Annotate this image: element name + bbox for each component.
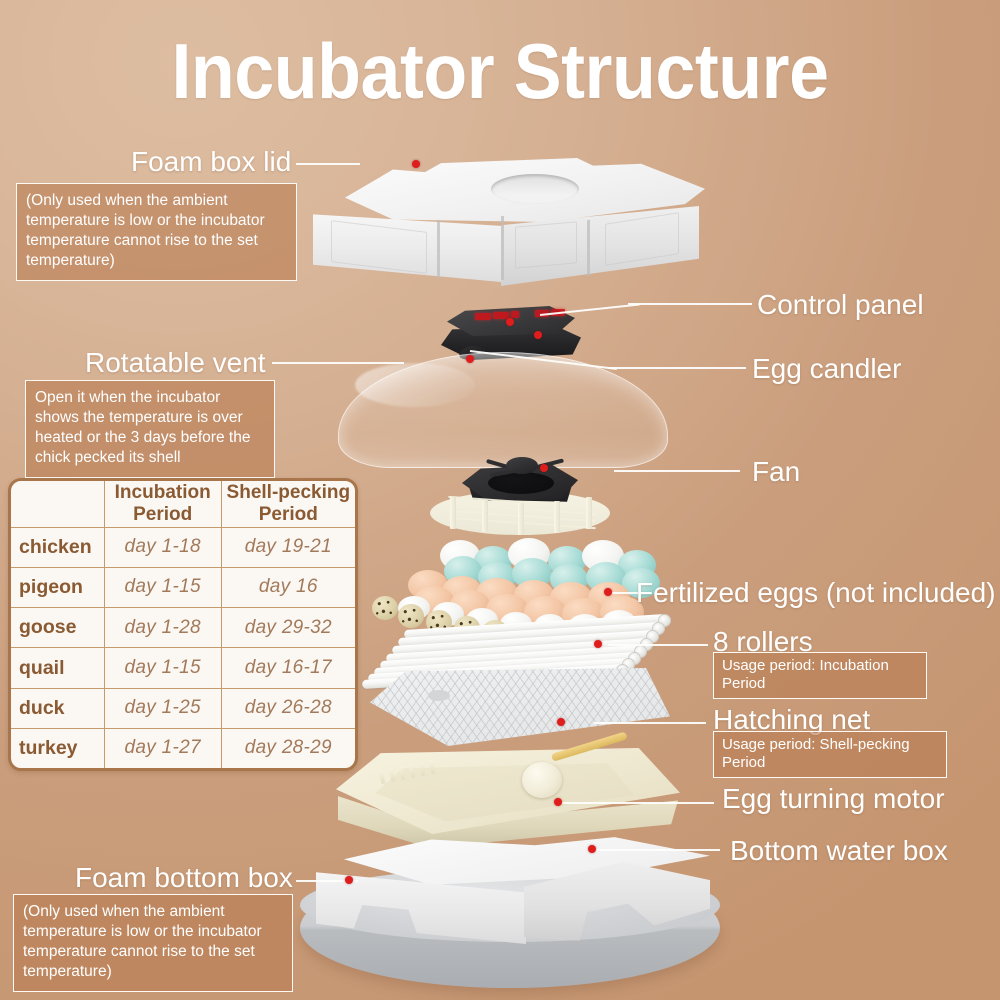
foam-lid-groove bbox=[437, 220, 440, 278]
foam-lid-groove bbox=[587, 220, 590, 276]
cell-species: duck bbox=[11, 688, 104, 728]
fan-hub bbox=[506, 457, 538, 474]
note-hatching-net: Usage period: Shell-pecking Period bbox=[713, 731, 947, 778]
fan-fence bbox=[448, 495, 596, 531]
foam-lid-panel bbox=[515, 221, 577, 268]
leader-foam-box-lid bbox=[296, 163, 360, 165]
table-header-row: Incubation Period Shell-pecking Period bbox=[11, 481, 355, 527]
label-fan: Fan bbox=[752, 456, 800, 488]
quail-egg bbox=[372, 596, 398, 620]
leader-hatching-net bbox=[594, 722, 706, 724]
table-row: pigeon day 1-15 day 16 bbox=[11, 567, 355, 607]
infographic-canvas: Incubator Structure bbox=[0, 0, 1000, 1000]
cell-pecking: day 29-32 bbox=[221, 608, 355, 648]
label-rotatable-vent: Rotatable vent bbox=[85, 347, 266, 379]
cell-species: goose bbox=[11, 608, 104, 648]
label-control-panel: Control panel bbox=[757, 289, 924, 321]
led-segment bbox=[475, 313, 491, 320]
fence-post bbox=[482, 500, 488, 532]
hatching-net-hole bbox=[428, 690, 450, 701]
cell-incubation: day 1-15 bbox=[104, 648, 221, 688]
marker-bottom-water-box bbox=[588, 845, 596, 853]
leader-egg-candler bbox=[608, 367, 746, 369]
marker-foam-bottom-box bbox=[345, 876, 353, 884]
fence-post bbox=[586, 497, 592, 529]
marker-control-panel bbox=[534, 331, 542, 339]
marker-egg-candler bbox=[466, 355, 474, 363]
leader-fertilized-eggs bbox=[612, 592, 638, 594]
transparent-dome-lid bbox=[338, 352, 668, 468]
cell-pecking: day 28-29 bbox=[221, 728, 355, 768]
cell-pecking: day 16 bbox=[221, 567, 355, 607]
note-rotatable-vent: Open it when the incubator shows the tem… bbox=[25, 380, 275, 478]
marker-rollers bbox=[594, 640, 602, 648]
leader-rotatable-vent bbox=[272, 362, 404, 364]
cell-incubation: day 1-15 bbox=[104, 567, 221, 607]
foam-box-lid-part bbox=[305, 158, 705, 288]
label-foam-bottom-box: Foam bottom box bbox=[75, 862, 293, 894]
marker-fan bbox=[540, 464, 548, 472]
label-foam-box-lid: Foam box lid bbox=[131, 146, 291, 178]
fence-post bbox=[518, 503, 524, 535]
marker-foam-box-lid bbox=[412, 160, 420, 168]
marker-control-panel-2 bbox=[506, 318, 514, 326]
egg-turning-motor-knob bbox=[522, 762, 562, 798]
dome-highlight bbox=[355, 363, 475, 407]
leader-rollers bbox=[608, 644, 708, 646]
led-segment bbox=[511, 311, 519, 318]
cell-incubation: day 1-27 bbox=[104, 728, 221, 768]
cell-pecking: day 26-28 bbox=[221, 688, 355, 728]
label-egg-turning-motor: Egg turning motor bbox=[722, 783, 945, 815]
note-foam-box-lid: (Only used when the ambient temperature … bbox=[16, 183, 297, 281]
cell-species: quail bbox=[11, 648, 104, 688]
table-header-pecking: Shell-pecking Period bbox=[221, 481, 355, 527]
cell-incubation: day 1-18 bbox=[104, 527, 221, 567]
cell-incubation: day 1-28 bbox=[104, 608, 221, 648]
incubation-period-table: Incubation Period Shell-pecking Period c… bbox=[8, 478, 358, 771]
foam-bottom-box-part bbox=[312, 836, 710, 958]
marker-egg-turning-motor bbox=[554, 798, 562, 806]
cell-species: pigeon bbox=[11, 567, 104, 607]
note-rollers: Usage period: Incubation Period bbox=[713, 652, 927, 699]
marker-fertilized-eggs bbox=[604, 588, 612, 596]
leader-control-panel bbox=[628, 303, 752, 305]
fan-part bbox=[430, 455, 610, 537]
cell-pecking: day 16-17 bbox=[221, 648, 355, 688]
table-row: duck day 1-25 day 26-28 bbox=[11, 688, 355, 728]
table-header-species bbox=[11, 481, 104, 527]
label-fertilized-eggs: Fertilized eggs (not included) bbox=[636, 577, 996, 609]
table-row: turkey day 1-27 day 28-29 bbox=[11, 728, 355, 768]
cell-species: chicken bbox=[11, 527, 104, 567]
leader-bottom-water-box bbox=[596, 849, 720, 851]
marker-hatching-net bbox=[557, 718, 565, 726]
table-header-incubation: Incubation Period bbox=[104, 481, 221, 527]
leader-fan bbox=[614, 470, 740, 472]
leader-egg-turning-motor bbox=[562, 802, 714, 804]
foam-lid-groove bbox=[501, 216, 504, 280]
cell-incubation: day 1-25 bbox=[104, 688, 221, 728]
quail-egg bbox=[398, 604, 424, 628]
note-foam-bottom-box: (Only used when the ambient temperature … bbox=[13, 894, 293, 992]
table-row: chicken day 1-18 day 19-21 bbox=[11, 527, 355, 567]
fence-post bbox=[554, 501, 560, 533]
cell-pecking: day 19-21 bbox=[221, 527, 355, 567]
table-row: goose day 1-28 day 29-32 bbox=[11, 608, 355, 648]
foam-lid-recess bbox=[491, 174, 579, 204]
cell-species: turkey bbox=[11, 728, 104, 768]
label-egg-candler: Egg candler bbox=[752, 353, 901, 385]
table-row: quail day 1-15 day 16-17 bbox=[11, 648, 355, 688]
label-bottom-water-box: Bottom water box bbox=[730, 835, 948, 867]
fence-post bbox=[450, 497, 456, 529]
